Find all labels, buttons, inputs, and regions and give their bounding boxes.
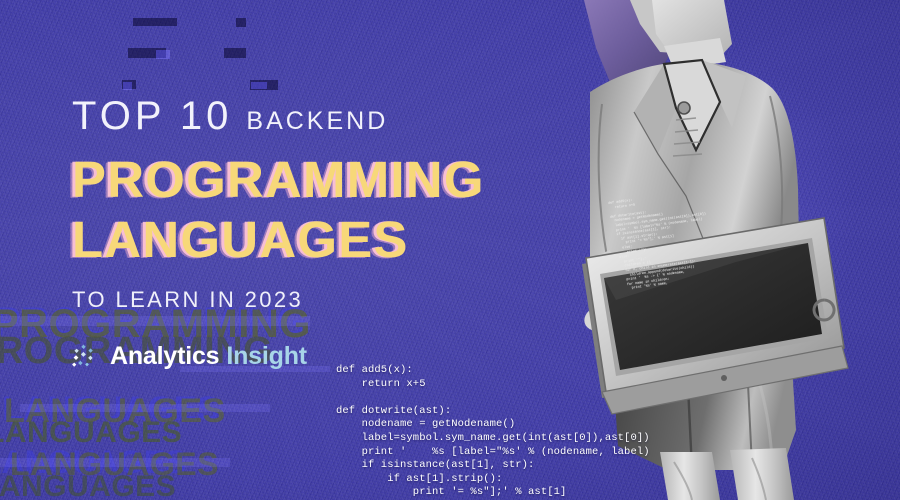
- banner-graphic: PROGRAMMING PROGRAMMING PROGRAMMING LANG…: [0, 0, 900, 500]
- headline-line-1: PROGRAMMING: [72, 155, 485, 205]
- glitch-mark: [224, 48, 246, 58]
- brand-logo[interactable]: AnalyticsInsight: [70, 341, 307, 371]
- headline-block: TOP 10 BACKEND PROGRAMMING LANGUAGES TO …: [72, 96, 485, 313]
- glitch-mark: [133, 18, 177, 26]
- glitch-mark: [123, 82, 132, 90]
- glitch-mark: [251, 82, 267, 89]
- headline-line-2: LANGUAGES: [72, 215, 485, 265]
- analytics-insight-diamond-grid-icon: [70, 341, 100, 371]
- code-overlay: def add5(x): return x+5 def dotwrite(ast…: [336, 364, 650, 500]
- kicker-line: TOP 10 BACKEND: [72, 96, 485, 136]
- glitch-mark: [156, 50, 170, 59]
- headline-subline: TO LEARN IN 2023: [72, 287, 485, 313]
- glitch-mark: [236, 18, 246, 27]
- brand-word-analytics: Analytics: [110, 342, 219, 370]
- brand-name: AnalyticsInsight: [110, 344, 307, 369]
- kicker-top10: TOP 10: [72, 96, 232, 136]
- kicker-backend: BACKEND: [246, 109, 388, 134]
- brand-word-insight: Insight: [226, 342, 307, 370]
